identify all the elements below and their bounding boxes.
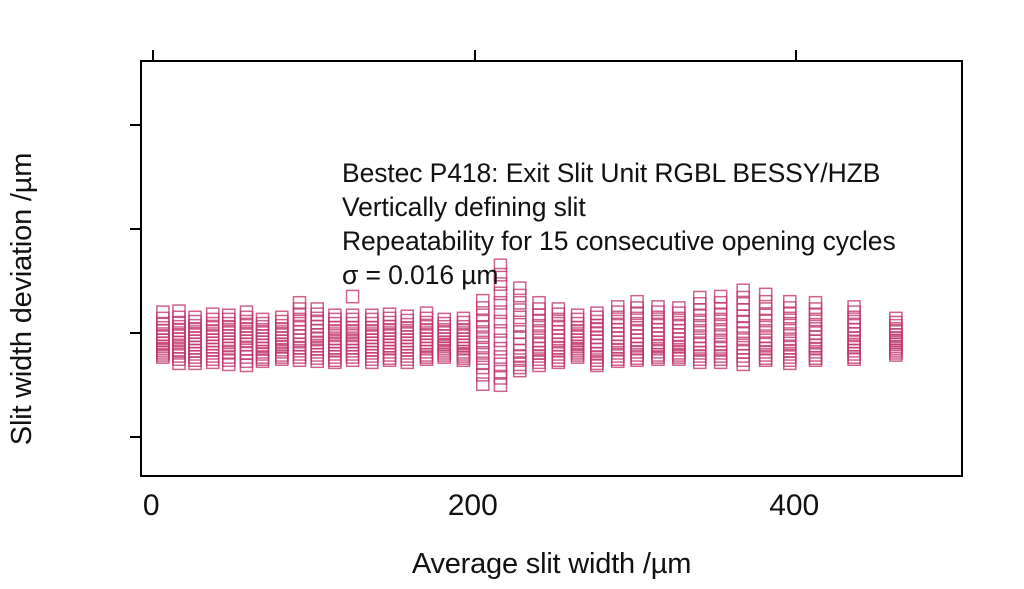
data-marker (533, 338, 545, 350)
data-marker (612, 328, 624, 340)
data-marker (760, 334, 772, 346)
data-marker (347, 309, 359, 321)
x-tick-label: 0 (91, 491, 211, 521)
data-marker (384, 308, 396, 320)
data-marker (612, 320, 624, 332)
data-marker (276, 311, 288, 323)
data-marker (494, 297, 506, 309)
data-marker (223, 309, 235, 321)
data-marker (311, 325, 323, 337)
data-column (591, 307, 603, 371)
data-marker (848, 306, 860, 318)
data-marker (347, 290, 359, 302)
data-marker (612, 324, 624, 336)
data-marker (673, 325, 685, 337)
data-marker (552, 308, 564, 320)
data-column (438, 313, 450, 363)
data-marker (631, 330, 643, 342)
data-column (207, 308, 219, 368)
data-marker (591, 323, 603, 335)
data-marker (612, 306, 624, 318)
data-marker (311, 308, 323, 320)
x-tick-label: 400 (734, 491, 854, 521)
data-marker (591, 307, 603, 319)
data-column (760, 288, 772, 366)
data-marker (311, 303, 323, 315)
data-marker (294, 318, 306, 330)
data-column (737, 284, 749, 370)
data-column (401, 310, 413, 368)
y-axis-title: Slit width deviation /µm (0, 79, 44, 519)
data-marker (514, 304, 526, 316)
data-marker (737, 342, 749, 354)
data-marker (420, 307, 432, 319)
x-tick (474, 50, 476, 61)
data-marker (715, 338, 727, 350)
data-marker (494, 325, 506, 337)
data-marker (552, 326, 564, 338)
data-marker (612, 315, 624, 327)
data-marker (631, 326, 643, 338)
data-column (347, 290, 359, 366)
data-marker (760, 296, 772, 308)
data-column (223, 309, 235, 370)
y-tick (130, 332, 141, 334)
annotation-textblock: Bestec P418: Exit Slit Unit RGBL BESSY/H… (342, 156, 896, 292)
data-column (311, 303, 323, 367)
data-marker (591, 315, 603, 327)
data-marker (240, 347, 252, 359)
data-column (294, 297, 306, 367)
data-marker (477, 295, 489, 307)
data-marker (673, 307, 685, 319)
data-marker (737, 346, 749, 358)
x-tick (795, 50, 797, 61)
data-marker (223, 351, 235, 363)
data-column (784, 296, 796, 370)
data-marker (294, 322, 306, 334)
data-column (572, 309, 584, 363)
data-marker (514, 311, 526, 323)
annotation-line-1: Bestec P418: Exit Slit Unit RGBL BESSY/H… (342, 156, 896, 190)
data-marker (223, 354, 235, 366)
annotation-line-2: Vertically defining slit (342, 190, 896, 224)
data-column (420, 307, 432, 365)
data-marker (552, 318, 564, 330)
data-marker (240, 306, 252, 318)
data-marker (401, 310, 413, 322)
data-marker (240, 351, 252, 363)
data-marker (514, 297, 526, 309)
data-column (257, 313, 269, 367)
data-marker (240, 311, 252, 323)
x-tick-label: 200 (413, 491, 533, 521)
data-column (612, 301, 624, 367)
data-marker (694, 338, 706, 350)
data-marker (591, 335, 603, 347)
data-marker (848, 315, 860, 327)
data-marker (494, 351, 506, 363)
data-marker (240, 355, 252, 367)
data-marker (514, 319, 526, 331)
data-marker (673, 321, 685, 333)
data-marker (591, 320, 603, 332)
data-marker (652, 306, 664, 318)
y-tick (130, 436, 141, 438)
data-marker (737, 350, 749, 362)
data-marker (477, 369, 489, 381)
data-column (552, 303, 564, 368)
data-marker (457, 312, 469, 324)
data-marker (809, 331, 821, 343)
data-marker (384, 312, 396, 324)
x-tick (152, 50, 154, 61)
data-marker (311, 321, 323, 333)
data-marker (240, 359, 252, 371)
data-marker (477, 302, 489, 314)
plot-area: -0.20.00.20.4 Bestec P418: Exit Slit Uni… (140, 60, 963, 477)
data-marker (694, 334, 706, 346)
data-column (240, 306, 252, 371)
data-marker (591, 327, 603, 339)
data-marker (673, 317, 685, 329)
data-marker (612, 332, 624, 344)
data-marker (329, 309, 341, 321)
data-marker (207, 308, 219, 320)
data-marker (514, 361, 526, 373)
data-column (809, 297, 821, 367)
data-column (694, 291, 706, 368)
data-marker (652, 324, 664, 336)
data-marker (494, 306, 506, 318)
data-column (384, 308, 396, 366)
data-marker (591, 339, 603, 351)
data-marker (294, 326, 306, 338)
data-marker (631, 322, 643, 334)
data-marker (311, 312, 323, 324)
data-marker (366, 313, 378, 325)
data-marker (207, 313, 219, 325)
data-marker (494, 358, 506, 370)
data-marker (809, 323, 821, 335)
y-tick (130, 124, 141, 126)
data-marker (477, 378, 489, 390)
data-marker (652, 328, 664, 340)
data-column (514, 282, 526, 377)
y-tick (130, 228, 141, 230)
data-marker (420, 312, 432, 324)
data-marker (848, 320, 860, 332)
x-axis-ticklabels: 0200400 (140, 477, 963, 537)
data-column (157, 306, 169, 363)
data-column (173, 305, 185, 369)
data-marker (631, 334, 643, 346)
data-marker (514, 350, 526, 362)
data-marker (223, 358, 235, 370)
data-marker (572, 313, 584, 325)
annotation-line-3: Repeatability for 15 consecutive opening… (342, 224, 896, 258)
data-marker (591, 311, 603, 323)
data-marker (591, 331, 603, 343)
data-column (673, 302, 685, 365)
data-column (533, 297, 545, 372)
data-marker (809, 327, 821, 339)
data-marker (673, 329, 685, 341)
data-marker (189, 311, 201, 323)
data-marker (652, 320, 664, 332)
data-marker (477, 361, 489, 373)
data-marker (848, 324, 860, 336)
data-column (477, 295, 489, 391)
data-column (715, 290, 727, 368)
data-column (366, 309, 378, 368)
data-marker (552, 330, 564, 342)
data-marker (533, 334, 545, 346)
data-marker (737, 358, 749, 370)
data-column (890, 312, 902, 361)
data-column (457, 312, 469, 366)
data-column (276, 311, 288, 365)
data-marker (494, 315, 506, 327)
data-marker (737, 354, 749, 366)
data-marker (652, 315, 664, 327)
data-marker (494, 379, 506, 391)
data-marker (494, 343, 506, 355)
data-marker (294, 330, 306, 342)
data-marker (366, 309, 378, 321)
data-marker (552, 322, 564, 334)
data-column (631, 296, 643, 367)
data-column (189, 311, 201, 369)
x-axis-title: Average slit width /µm (140, 548, 963, 581)
data-marker (572, 309, 584, 321)
chart-figure: Slit width deviation /µm -0.20.00.20.4 B… (0, 0, 1024, 589)
data-column (652, 301, 664, 365)
data-marker (329, 313, 341, 325)
annotation-line-4: σ = 0.016 µm (342, 258, 896, 292)
data-column (848, 301, 860, 365)
data-column (329, 309, 341, 368)
data-marker (311, 317, 323, 329)
data-marker (494, 334, 506, 346)
data-marker (294, 308, 306, 320)
data-marker (347, 313, 359, 325)
